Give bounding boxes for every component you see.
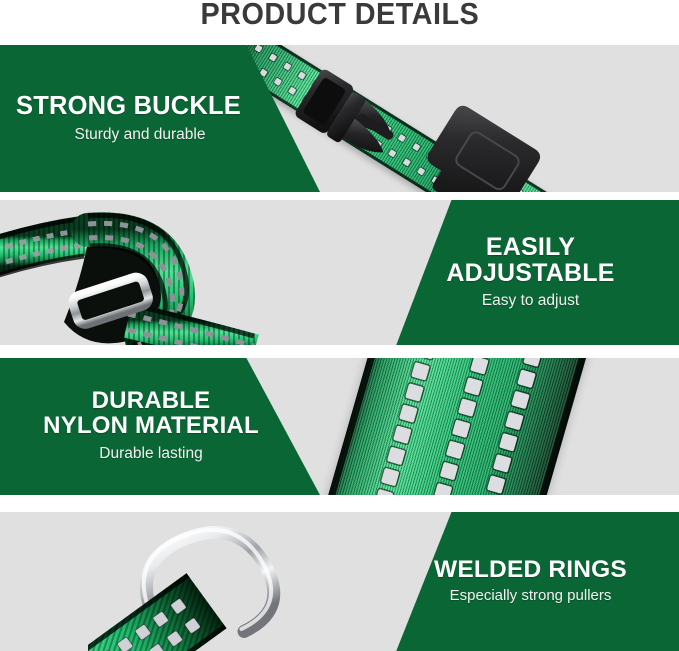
d-ring-icon — [88, 516, 388, 651]
panel-subline: Especially strong pullers — [396, 587, 665, 606]
nylon-webbing-icon — [311, 358, 604, 495]
feature-panel-welded-rings: WELDED RINGS Especially strong pullers — [0, 512, 679, 651]
adjuster-slider-icon — [0, 200, 398, 345]
page-title: PRODUCT DETAILS — [200, 0, 479, 31]
feature-panel-durable-nylon-material: DURABLE NYLON MATERIAL Durable lasting — [0, 358, 679, 495]
panel-headline: STRONG BUCKLE — [16, 93, 286, 120]
product-details-infographic: PRODUCT DETAILS — [0, 0, 679, 651]
feature-panel-strong-buckle: STRONG BUCKLE Sturdy and durable — [0, 45, 679, 192]
panel-subline: Sturdy and durable — [16, 125, 286, 144]
buckle-icon — [270, 63, 600, 192]
panel-subline: Durable lasting — [16, 444, 286, 463]
panel-headline: WELDED RINGS — [396, 557, 665, 582]
panel-subline: Easy to adjust — [396, 291, 665, 310]
panel-headline-line-2: ADJUSTABLE — [396, 260, 665, 286]
header: PRODUCT DETAILS — [0, 0, 679, 42]
feature-panel-easily-adjustable: EASILY ADJUSTABLE Easy to adjust — [0, 200, 679, 345]
panel-headline-line-2: NYLON MATERIAL — [16, 414, 286, 439]
panel-headline-line-1: DURABLE — [16, 389, 286, 414]
